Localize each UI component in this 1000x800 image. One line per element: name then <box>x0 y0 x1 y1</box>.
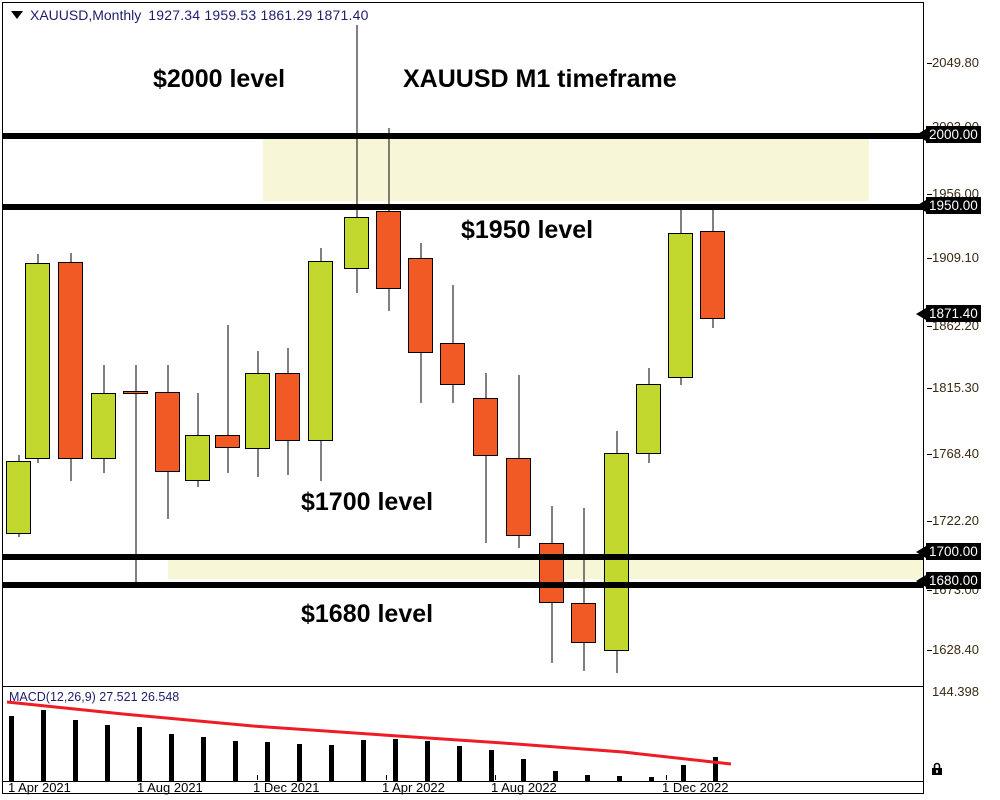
tick-mark <box>927 590 932 591</box>
price-tick: 1628.40 <box>932 642 979 657</box>
tick-mark <box>927 521 932 522</box>
level-line-1950-00[interactable] <box>3 204 923 210</box>
chart-frame: $2000 levelXAUUSD M1 timeframe$1950 leve… <box>2 2 924 794</box>
candle-body-down <box>473 398 498 456</box>
tick-arrow-icon <box>916 308 926 320</box>
price-tick: 1768.40 <box>932 446 979 461</box>
tick-mark <box>927 63 932 64</box>
candle-body-down <box>700 231 725 319</box>
candle-body-down <box>123 391 148 394</box>
candle-body-up <box>308 261 333 441</box>
price-tick-highlighted: 1871.40 <box>926 305 981 322</box>
level-line-1680-00[interactable] <box>3 582 923 588</box>
price-scale-axis[interactable]: 2049.802003.002000.001956.001950.001909.… <box>926 2 1000 794</box>
annotation-text: $1680 level <box>301 600 433 629</box>
price-tick: 1909.10 <box>932 250 979 265</box>
tick-mark <box>927 258 932 259</box>
price-tick-highlighted: 1700.00 <box>926 543 981 560</box>
candle-body-down <box>58 262 83 459</box>
candle-body-up <box>245 373 270 449</box>
candle-body-up <box>185 435 210 481</box>
tick-mark <box>927 454 932 455</box>
triangle-down-icon[interactable] <box>11 11 23 19</box>
price-tick: 2049.80 <box>932 55 979 70</box>
ohlc-values: 1927.34 1959.53 1861.29 1871.40 <box>148 7 368 23</box>
candle-body-up <box>604 453 629 651</box>
level-line-1700-00[interactable] <box>3 554 923 560</box>
tick-mark <box>927 194 932 195</box>
candle-body-up <box>91 393 116 459</box>
tick-mark <box>927 650 932 651</box>
tick-mark <box>927 326 932 327</box>
candle-body-down <box>539 543 564 603</box>
tick-arrow-icon <box>916 575 926 587</box>
trading-chart-screenshot: $2000 levelXAUUSD M1 timeframe$1950 leve… <box>0 0 1000 800</box>
candle-body-down <box>215 435 240 448</box>
macd-scale-tick: 144.398 <box>932 684 979 699</box>
symbol-label: XAUUSD,Monthly <box>30 7 141 23</box>
price-tick-highlighted: 1680.00 <box>926 572 981 589</box>
annotation-text: $2000 level <box>153 65 285 94</box>
price-tick-highlighted: 2000.00 <box>926 126 981 143</box>
candle-body-down <box>275 373 300 441</box>
annotation-text: $1700 level <box>301 488 433 517</box>
price-pane[interactable]: $2000 levelXAUUSD M1 timeframe$1950 leve… <box>3 3 923 687</box>
price-tick: 1722.20 <box>932 513 979 528</box>
candle-wick <box>135 365 136 583</box>
candle-body-up <box>344 217 369 269</box>
candle-body-up <box>25 263 50 459</box>
candle-body-down <box>155 392 180 472</box>
chart-header: XAUUSD,Monthly 1927.34 1959.53 1861.29 1… <box>11 7 369 23</box>
candle-body-up <box>668 233 693 378</box>
price-tick: 1815.30 <box>932 380 979 395</box>
level-line-2000-00[interactable] <box>3 133 923 139</box>
candle-body-up <box>636 384 661 454</box>
tick-mark <box>927 388 932 389</box>
tick-arrow-icon <box>916 200 926 212</box>
macd-pane[interactable]: MACD(12,26,9) 27.521 26.548 <box>3 688 923 794</box>
candle-wick <box>583 508 584 671</box>
candle-body-down <box>408 258 433 353</box>
candle-body-down <box>440 343 465 385</box>
annotation-text: $1950 level <box>461 216 593 245</box>
tick-arrow-icon <box>916 546 926 558</box>
lock-icon[interactable] <box>930 762 944 776</box>
candle-wick <box>227 325 228 473</box>
candle-body-down <box>506 458 531 536</box>
annotation-text: XAUUSD M1 timeframe <box>403 65 677 94</box>
price-tick-highlighted: 1950.00 <box>926 197 981 214</box>
candle-body-down <box>571 603 596 643</box>
candle-body-down <box>376 211 401 289</box>
macd-label: MACD(12,26,9) 27.521 26.548 <box>9 690 179 704</box>
tick-arrow-icon <box>916 129 926 141</box>
